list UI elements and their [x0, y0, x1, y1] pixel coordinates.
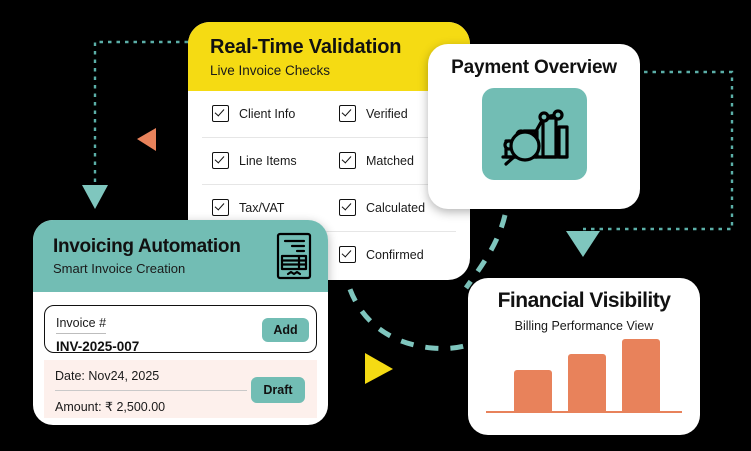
- bar-group: [514, 339, 660, 411]
- analytics-magnifier-icon: [497, 101, 571, 167]
- checklist-item[interactable]: Confirmed: [329, 246, 456, 263]
- card-invoicing-automation: Invoicing Automation Smart Invoice Creat…: [33, 220, 328, 425]
- checklist-label: Client Info: [239, 107, 295, 121]
- checklist-item[interactable]: Tax/VAT: [202, 199, 329, 216]
- checklist-label: Verified: [366, 107, 408, 121]
- connector-validation-to-invoicing: [95, 42, 188, 185]
- checklist-item[interactable]: Line Items: [202, 152, 329, 169]
- invoicing-body: Invoice # INV-2025-007 Add Date: Nov24, …: [33, 292, 328, 418]
- card-payment-overview: Payment Overview: [428, 44, 640, 209]
- financial-visibility-title: Financial Visibility: [468, 289, 700, 313]
- checklist-item[interactable]: Client Info: [202, 105, 329, 122]
- invoice-number-label: Invoice #: [56, 316, 106, 334]
- checklist-label: Matched: [366, 154, 414, 168]
- checkbox-checked-icon[interactable]: [212, 199, 229, 216]
- financial-visibility-subtitle: Billing Performance View: [468, 319, 700, 333]
- checklist-label: Tax/VAT: [239, 201, 284, 215]
- checklist-row: Client Info Verified: [202, 91, 456, 138]
- chart-baseline: [486, 411, 682, 414]
- invoicing-subtitle: Smart Invoice Creation: [53, 261, 241, 276]
- diagram-canvas: Real-Time Validation Live Invoice Checks…: [0, 0, 751, 451]
- checkbox-checked-icon[interactable]: [339, 152, 356, 169]
- invoicing-header-text: Invoicing Automation Smart Invoice Creat…: [53, 236, 241, 277]
- billing-performance-bar-chart: [486, 339, 682, 419]
- down-triangle-teal-right-icon: [566, 231, 600, 257]
- checkbox-checked-icon[interactable]: [339, 105, 356, 122]
- checkbox-checked-icon[interactable]: [212, 152, 229, 169]
- invoicing-title: Invoicing Automation: [53, 236, 241, 258]
- checklist-label: Line Items: [239, 154, 297, 168]
- invoice-date-text: Date: Nov24, 2025: [55, 369, 247, 391]
- status-badge-draft[interactable]: Draft: [251, 377, 305, 403]
- bar-2: [568, 354, 606, 411]
- down-triangle-teal-left-icon: [82, 185, 108, 209]
- bar-3: [622, 339, 660, 411]
- add-button[interactable]: Add: [262, 318, 309, 342]
- right-triangle-yellow-icon: [365, 353, 393, 384]
- checklist-label: Calculated: [366, 201, 425, 215]
- payment-icon-tile: [482, 88, 587, 180]
- checkbox-checked-icon[interactable]: [212, 105, 229, 122]
- checkbox-checked-icon[interactable]: [339, 246, 356, 263]
- invoice-document-icon: [274, 232, 314, 280]
- checklist-row: Line Items Matched: [202, 138, 456, 185]
- checklist-label: Confirmed: [366, 248, 424, 262]
- payment-overview-title: Payment Overview: [428, 57, 640, 79]
- card-financial-visibility: Financial Visibility Billing Performance…: [468, 278, 700, 435]
- invoicing-header: Invoicing Automation Smart Invoice Creat…: [33, 220, 328, 292]
- checkbox-checked-icon[interactable]: [339, 199, 356, 216]
- left-triangle-orange-icon: [137, 128, 156, 151]
- invoice-meta-panel: Date: Nov24, 2025 Amount: ₹ 2,500.00 Dra…: [44, 360, 317, 418]
- bar-1: [514, 370, 552, 411]
- invoice-number-field[interactable]: Invoice # INV-2025-007 Add: [44, 305, 317, 353]
